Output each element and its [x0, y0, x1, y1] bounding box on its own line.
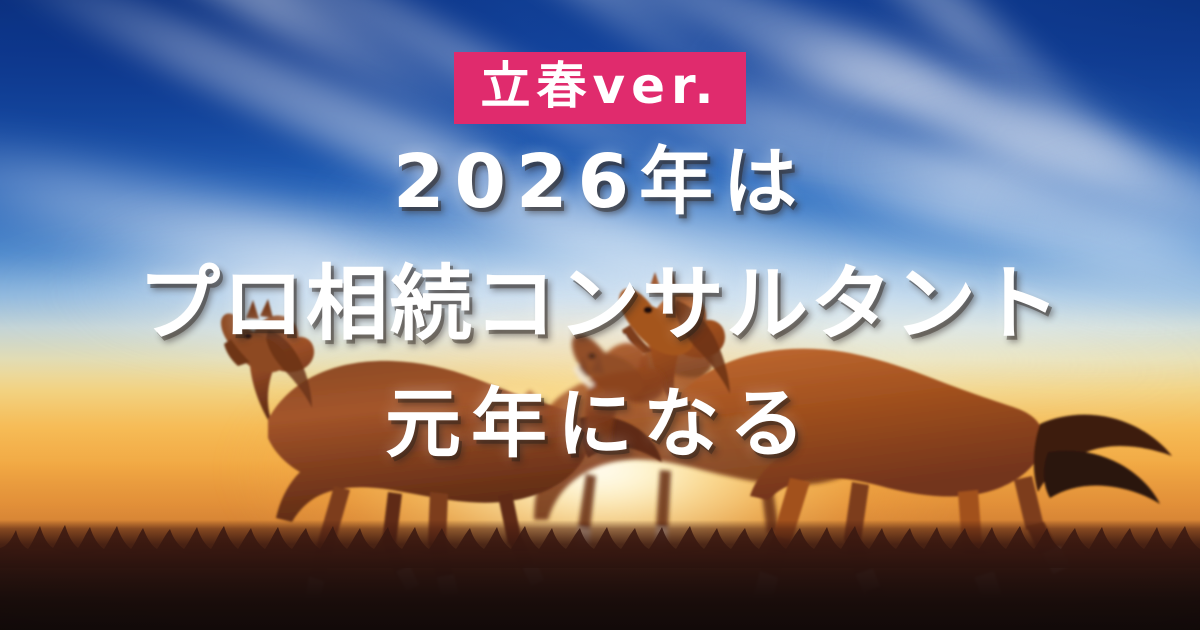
dark-field: [0, 520, 1200, 630]
headline-line-2: プロ相続コンサルタント: [138, 262, 1062, 348]
banner-canvas: 立春ver. 2026年は プロ相続コンサルタント 元年になる: [0, 0, 1200, 630]
headline-line-3: 元年になる: [385, 384, 815, 464]
version-badge[interactable]: 立春ver.: [454, 52, 745, 124]
headline-line-1: 2026年は: [393, 144, 807, 222]
